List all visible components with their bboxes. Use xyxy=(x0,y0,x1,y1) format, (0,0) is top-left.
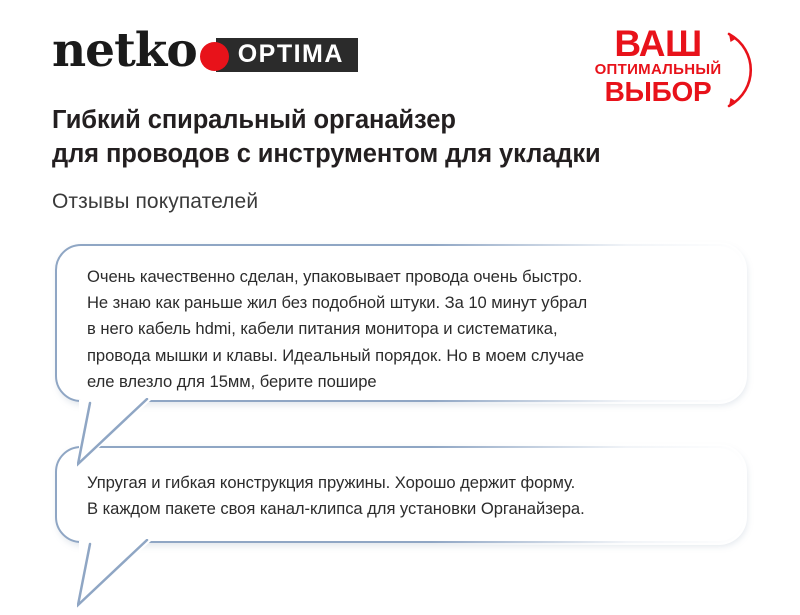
reviews-heading: Отзывы покупателей xyxy=(52,190,258,214)
page-header: netko OPTIMA ВАШ ОПТИМАЛЬНЫЙ ВЫБОР xyxy=(0,0,800,110)
logo-optima-badge: OPTIMA xyxy=(216,38,358,72)
review-text: Упругая и гибкая конструкция пружины. Хо… xyxy=(87,470,713,522)
red-circle-icon xyxy=(200,42,229,71)
speech-bubble-tail-icon xyxy=(77,539,159,615)
review-bubble-body: Очень качественно сделан, упаковывает пр… xyxy=(55,244,745,402)
page-title: Гибкий спиральный органайзер для проводо… xyxy=(52,104,601,171)
choice-badge-text: ВАШ ОПТИМАЛЬНЫЙ ВЫБОР xyxy=(583,26,733,106)
brand-logo[interactable]: netko OPTIMA xyxy=(52,27,358,77)
review-bubble: Очень качественно сделан, упаковывает пр… xyxy=(55,244,745,402)
double-arrow-arc-icon xyxy=(720,26,768,114)
choice-badge: ВАШ ОПТИМАЛЬНЫЙ ВЫБОР xyxy=(583,26,768,114)
logo-wordmark: netko xyxy=(52,27,197,74)
review-text: Очень качественно сделан, упаковывает пр… xyxy=(87,264,713,395)
choice-badge-line-1: ВАШ xyxy=(583,26,733,61)
choice-badge-line-3: ВЫБОР xyxy=(583,78,733,106)
speech-bubble-tail-icon xyxy=(77,398,159,474)
